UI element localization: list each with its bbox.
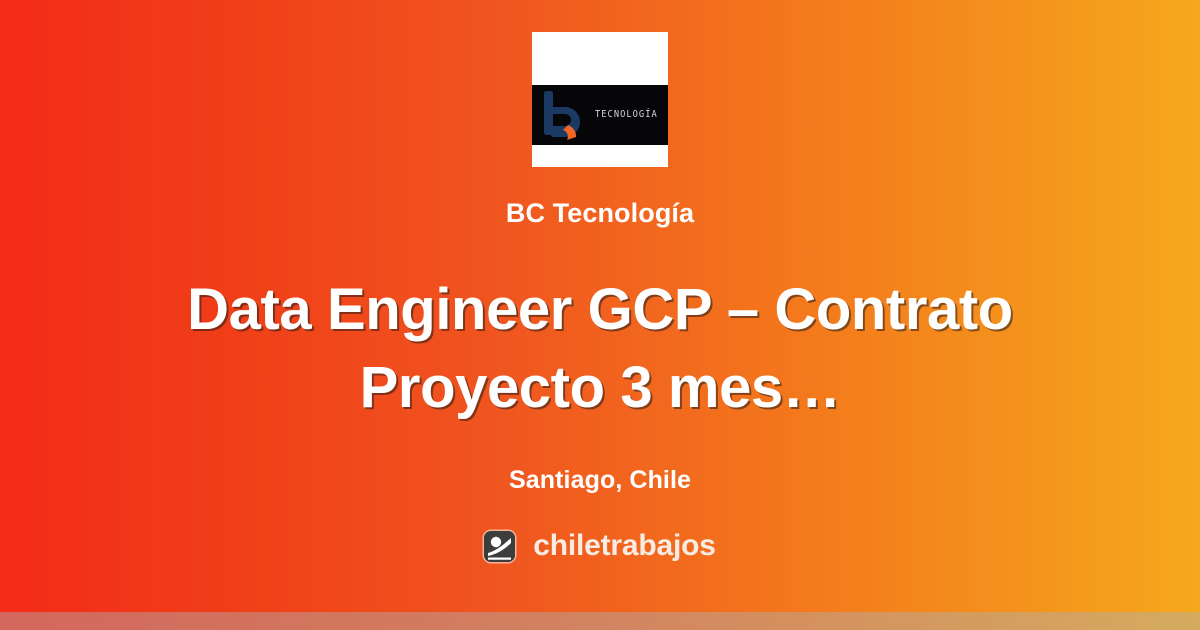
site-brand-name: chiletrabajos [533,531,715,561]
logo-dark-band: TECNOLOGÍA [532,85,668,145]
job-share-card: TECNOLOGÍA BC Tecnología Data Engineer G… [0,0,1200,630]
chiletrabajos-logo-icon [484,531,515,562]
company-logo-badge: TECNOLOGÍA [532,32,668,167]
site-brand[interactable]: chiletrabajos [484,531,715,562]
bottom-overlay-strip [0,612,1200,630]
bc-monogram-icon [542,87,594,143]
job-title: Data Engineer GCP – Contrato Proyecto 3 … [120,271,1080,425]
logo-wordmark: TECNOLOGÍA [595,110,658,120]
company-name: BC Tecnología [506,197,694,229]
job-location: Santiago, Chile [509,466,691,495]
